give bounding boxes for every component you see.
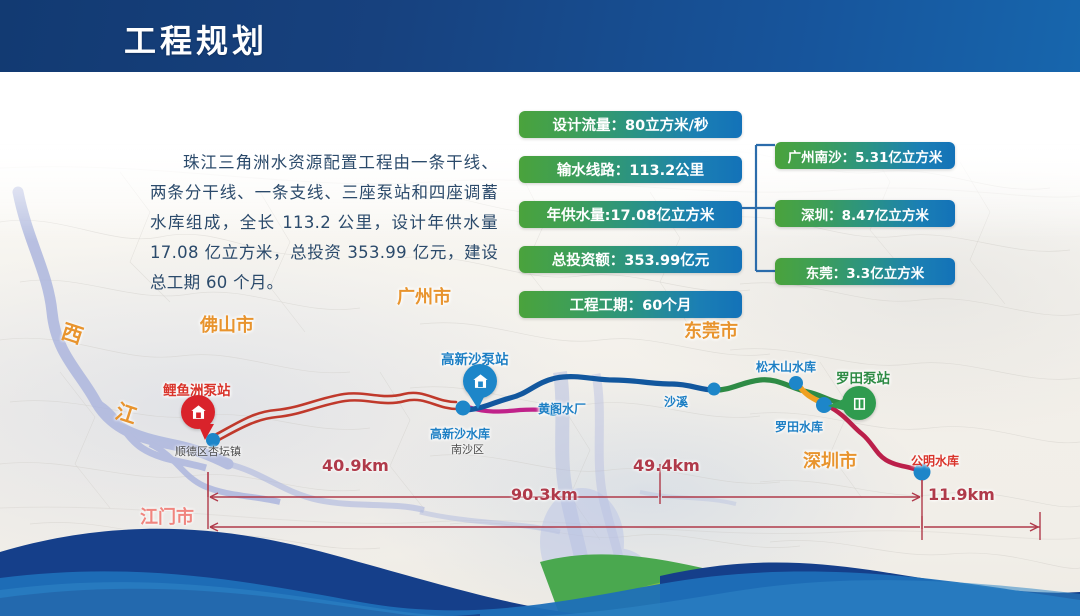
- node-label-gaoxinsha-reservoir: 高新沙水库: [430, 425, 490, 442]
- dimension-label-40-9km: 40.9km: [322, 456, 389, 475]
- city-label-dongguan: 东莞市: [684, 317, 738, 343]
- node-label-nansha-district: 南沙区: [451, 441, 484, 457]
- city-label-foshan: 佛山市: [200, 311, 254, 337]
- pump-house-icon: [850, 394, 869, 413]
- dimension-label-11-9km: 11.9km: [928, 485, 995, 504]
- city-label-shenzhen: 深圳市: [803, 447, 857, 473]
- pump-house-icon: [189, 403, 208, 422]
- node-label-luotian-reservoir: 罗田水库: [775, 418, 823, 435]
- slide-root: 工程规划 珠江三角洲水资源配置工程由一条干线、两条分干线、一条支线、三座泵站和四…: [0, 0, 1080, 616]
- node-label-songmushan-reservoir: 松木山水库: [756, 358, 816, 375]
- wave-decoration: [0, 506, 1080, 616]
- pin-tail-gaoxinsha: [464, 393, 492, 413]
- station-label-luotian: 罗田泵站: [836, 367, 890, 387]
- dimension-label-49-4km: 49.4km: [633, 456, 700, 475]
- node-label-shunde-xingtan: 顺德区杏坛镇: [175, 443, 241, 459]
- pump-house-icon: [471, 372, 490, 391]
- header-bar: 工程规划: [0, 0, 1080, 72]
- node-label-huangge-waterworks: 黄阁水厂: [538, 400, 586, 417]
- page-title: 工程规划: [124, 16, 268, 62]
- node-label-shaxi: 沙溪: [664, 393, 688, 410]
- node-label-gongming-reservoir: 公明水库: [911, 452, 959, 469]
- pin-tail-luotian: [826, 396, 850, 416]
- city-label-guangzhou: 广州市: [397, 283, 451, 309]
- dimension-label-90-3km: 90.3km: [511, 485, 578, 504]
